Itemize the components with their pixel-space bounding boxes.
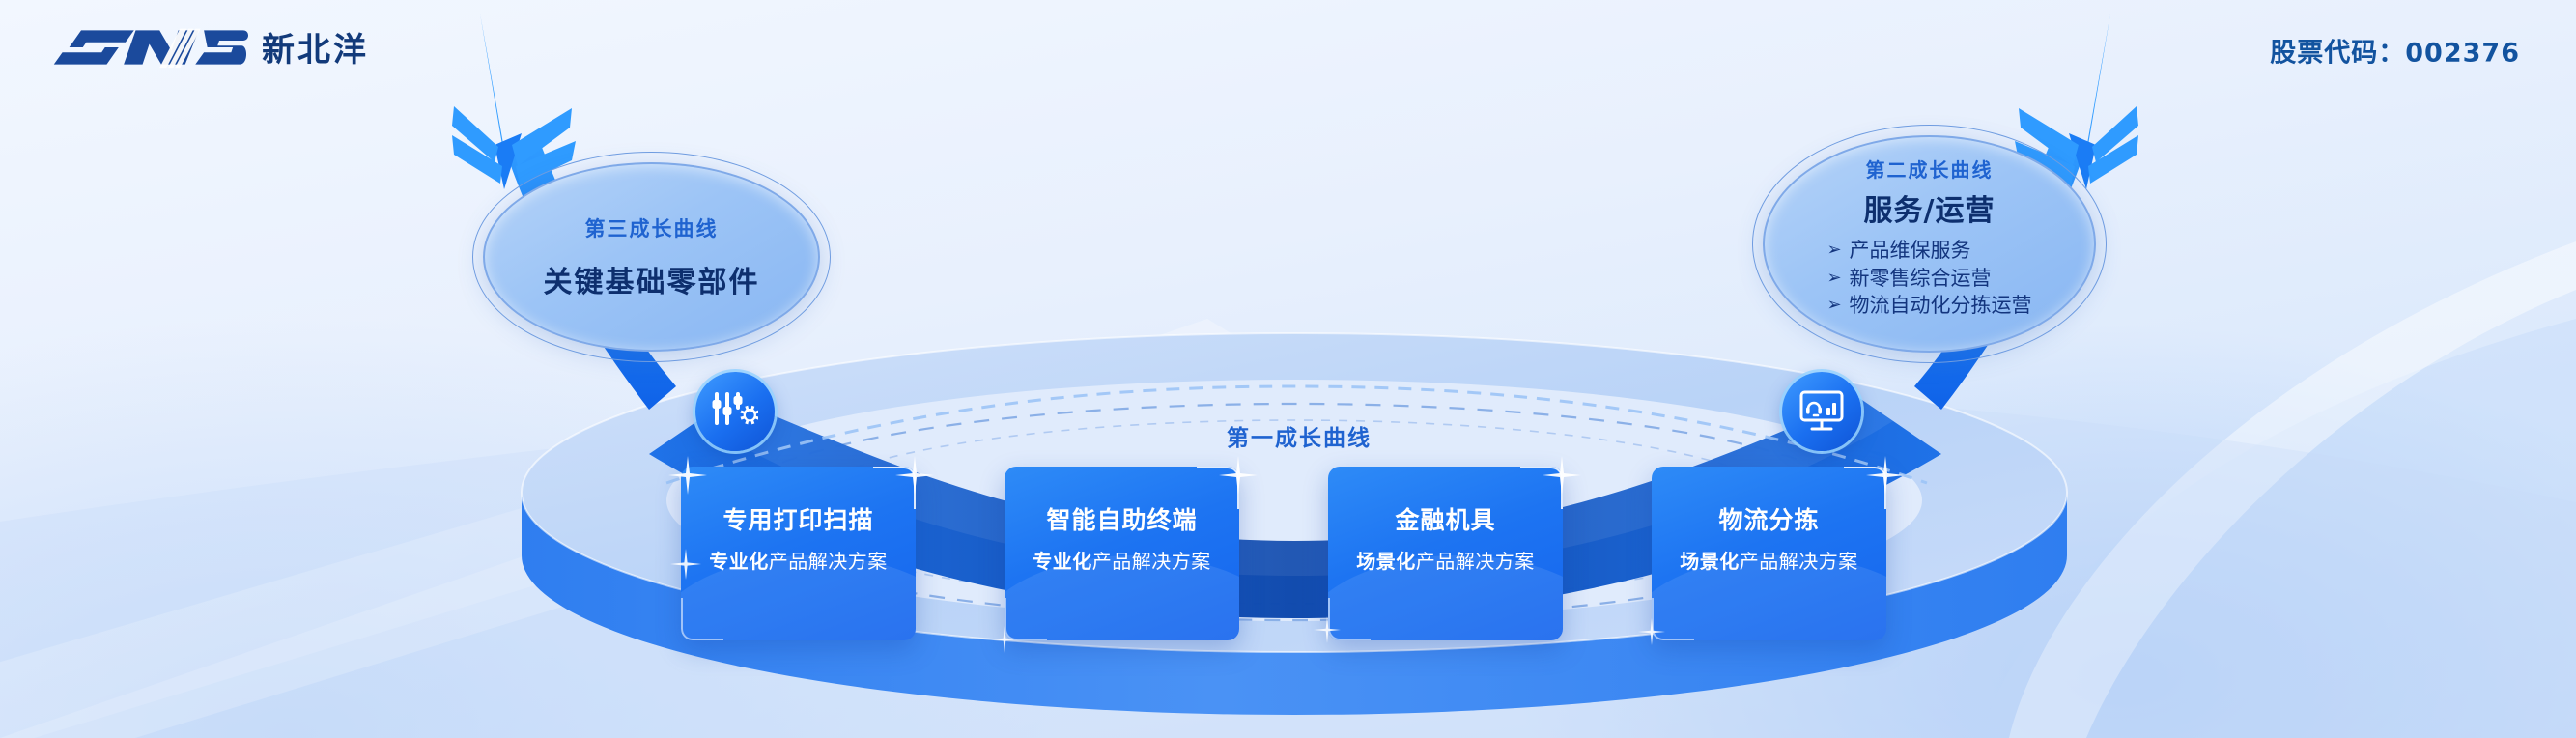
- card-subtitle-strong: 专业化: [709, 550, 769, 573]
- card-subtitle-strong: 专业化: [1033, 550, 1092, 573]
- chevron-right-icon: ➢: [1826, 267, 1841, 290]
- sliders-gear-icon-badge: [695, 372, 775, 451]
- stock-code-label: 股票代码：002376: [2270, 32, 2520, 70]
- product-card-self-service[interactable]: 智能自助终端 专业化产品解决方案: [1005, 467, 1239, 640]
- card-subtitle-strong: 场景化: [1680, 550, 1740, 573]
- card-subtitle-rest: 产品解决方案: [769, 550, 888, 573]
- card-subtitle-rest: 产品解决方案: [1416, 550, 1535, 573]
- card-subtitle: 专业化产品解决方案: [681, 546, 916, 574]
- monitor-headset-chart-icon-badge: [1782, 372, 1861, 451]
- chevron-right-icon: ➢: [1826, 239, 1841, 262]
- card-subtitle-rest: 产品解决方案: [1740, 550, 1858, 573]
- third-curve-title: 关键基础零部件: [544, 258, 760, 300]
- chevron-right-icon: ➢: [1826, 294, 1841, 317]
- second-curve-bullet-list: ➢ 产品维保服务 ➢ 新零售综合运营 ➢ 物流自动化分拣运营: [1826, 237, 2031, 320]
- list-item-label: 新零售综合运营: [1850, 265, 1992, 293]
- second-growth-curve-bubble: 第二成长曲线 服务/运营 ➢ 产品维保服务 ➢ 新零售综合运营 ➢ 物流自动化分…: [1763, 135, 2096, 353]
- sliders-gear-icon: [712, 389, 758, 434]
- card-subtitle-rest: 产品解决方案: [1092, 550, 1211, 573]
- product-card-printing[interactable]: 专用打印扫描 专业化产品解决方案: [681, 467, 916, 640]
- list-item: ➢ 物流自动化分拣运营: [1826, 292, 2031, 320]
- card-title: 专用打印扫描: [681, 501, 916, 536]
- card-subtitle: 场景化产品解决方案: [1328, 546, 1563, 574]
- list-item: ➢ 新零售综合运营: [1826, 265, 2031, 293]
- third-curve-label: 第三成长曲线: [585, 213, 719, 242]
- card-subtitle: 专业化产品解决方案: [1005, 546, 1239, 574]
- brand-logo: 新北洋: [52, 23, 369, 71]
- list-item: ➢ 产品维保服务: [1826, 237, 2031, 265]
- list-item-label: 物流自动化分拣运营: [1850, 292, 2032, 320]
- logo-chinese-text: 新北洋: [262, 23, 369, 71]
- card-corner-accent: [681, 598, 723, 640]
- card-corner-accent: [1652, 598, 1694, 640]
- monitor-headset-chart-icon: [1798, 389, 1845, 434]
- card-title: 金融机具: [1328, 501, 1563, 536]
- list-item-label: 产品维保服务: [1850, 237, 1971, 265]
- first-curve-label: 第一成长曲线: [1154, 419, 1444, 452]
- infographic-canvas: 新北洋 股票代码：002376 第三成长曲线 关键基础零部件 第二成长曲线 服务…: [0, 0, 2576, 738]
- background-art: [0, 0, 2576, 738]
- card-corner-accent: [1005, 598, 1047, 640]
- card-title: 智能自助终端: [1005, 501, 1239, 536]
- card-subtitle-strong: 场景化: [1356, 550, 1416, 573]
- second-curve-label: 第二成长曲线: [1866, 155, 1994, 183]
- third-growth-curve-bubble: 第三成长曲线 关键基础零部件: [483, 162, 820, 352]
- product-card-financial[interactable]: 金融机具 场景化产品解决方案: [1328, 467, 1563, 640]
- card-subtitle: 场景化产品解决方案: [1652, 546, 1886, 574]
- second-curve-title: 服务/运营: [1864, 186, 1996, 229]
- snbc-logomark: [52, 25, 248, 70]
- card-title: 物流分拣: [1652, 501, 1886, 536]
- card-corner-accent: [1328, 598, 1371, 640]
- product-card-logistics[interactable]: 物流分拣 场景化产品解决方案: [1652, 467, 1886, 640]
